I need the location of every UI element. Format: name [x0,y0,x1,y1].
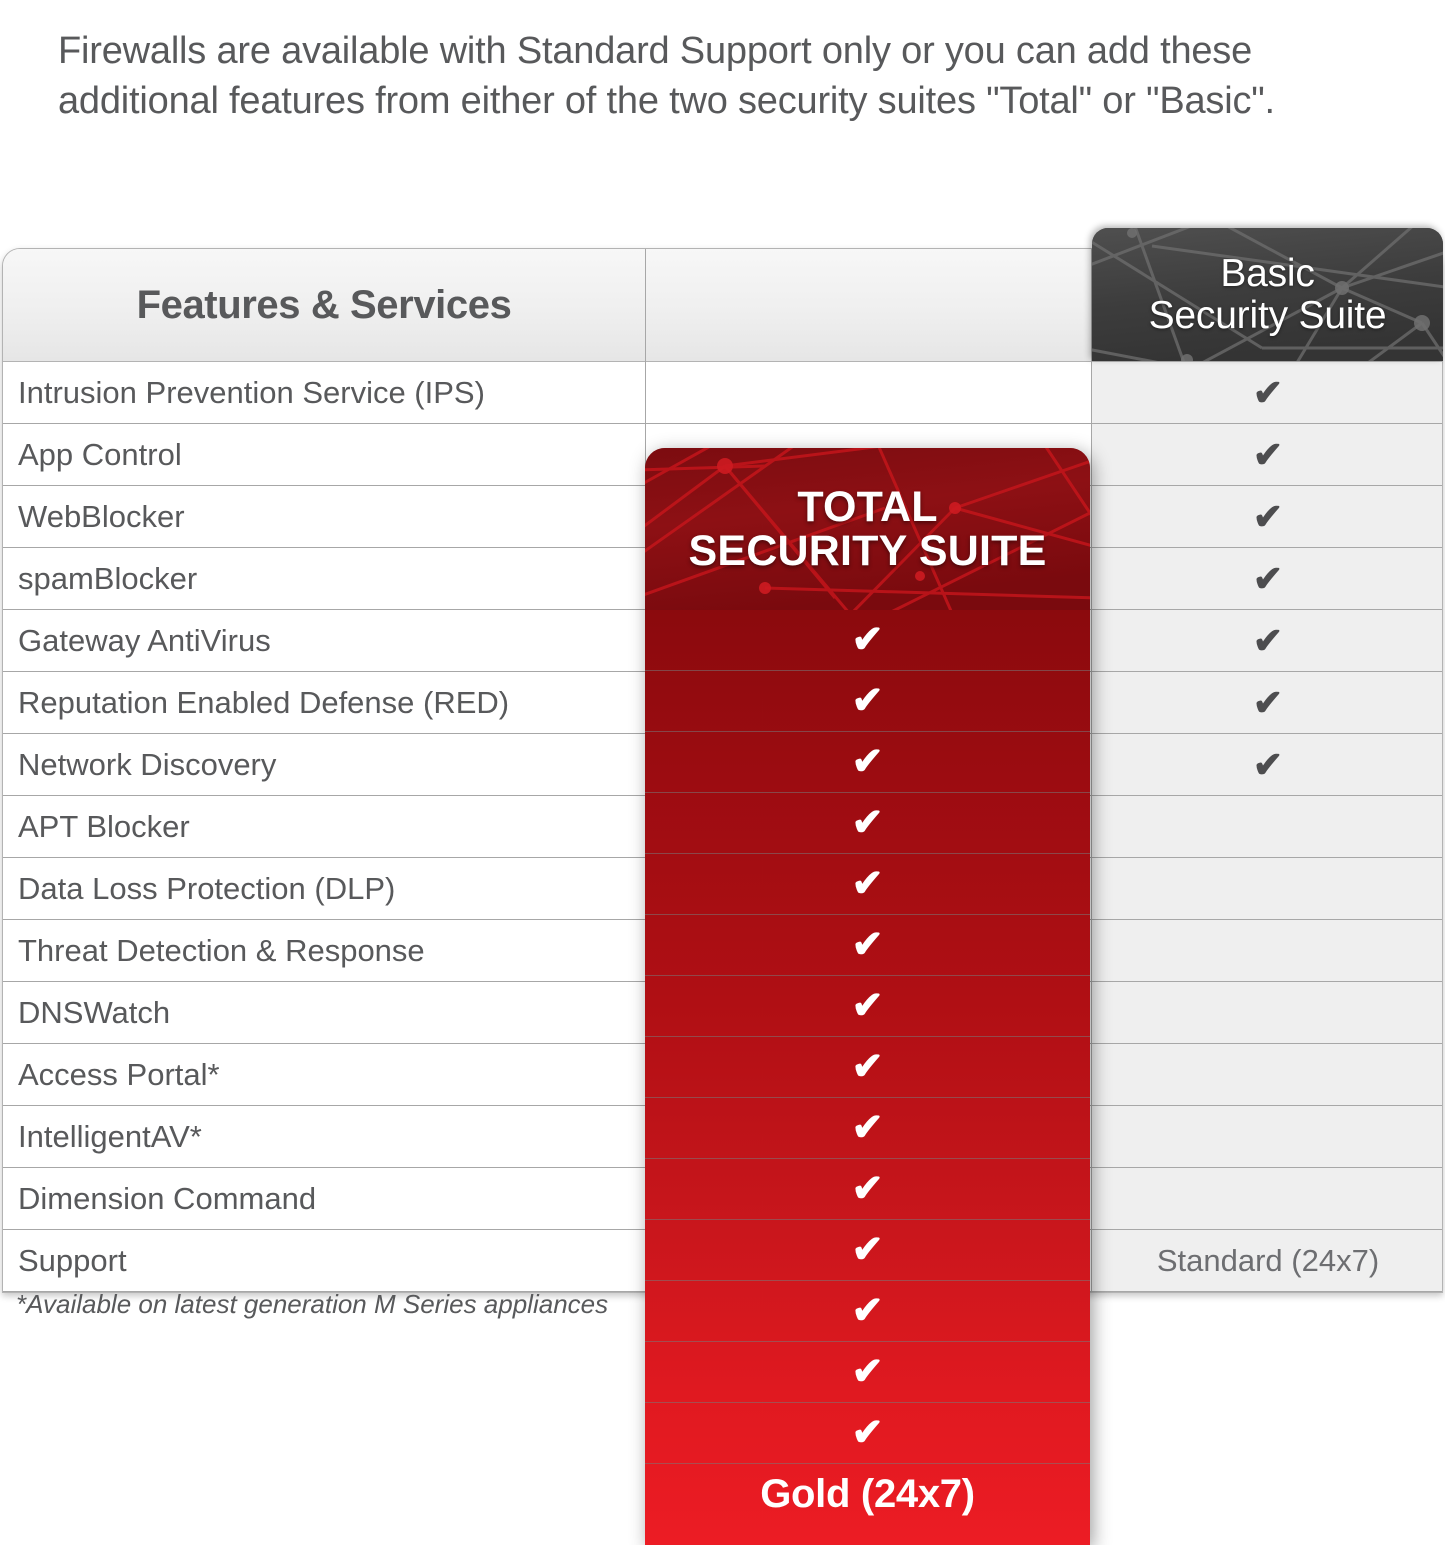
feature-name: Dimension Command [18,1168,316,1229]
check-icon: ✔ [852,926,884,964]
features-services-header: Features & Services [3,249,645,361]
check-icon: ✔ [852,1353,884,1391]
check-icon: ✔ [1253,685,1283,721]
basic-suite-cell [1092,1106,1443,1167]
total-suite-cell: ✔ [645,1037,1090,1098]
check-icon: ✔ [1253,747,1283,783]
basic-suite-cell [1092,858,1443,919]
feature-name: DNSWatch [18,982,170,1043]
feature-name: IntelligentAV* [18,1106,202,1167]
total-header-line1: TOTAL [797,485,937,529]
total-header-line2: SECURITY SUITE [688,529,1046,573]
total-suite-cell: ✔ [645,1220,1090,1281]
total-security-suite-column: TOTAL SECURITY SUITE ✔✔✔✔✔✔✔✔✔✔✔✔✔✔Gold … [645,448,1090,1545]
total-suite-cell: ✔ [645,793,1090,854]
basic-suite-cell: ✔ [1092,548,1443,609]
table-row: Intrusion Prevention Service (IPS)✔ [3,362,1442,424]
check-icon: ✔ [1253,561,1283,597]
total-suite-cell: ✔ [645,976,1090,1037]
basic-suite-cell [1092,920,1443,981]
feature-name: Access Portal* [18,1044,220,1105]
total-suite-cell: ✔ [645,732,1090,793]
basic-suite-cell [1092,1168,1443,1229]
feature-name: Data Loss Protection (DLP) [18,858,395,919]
feature-name: WebBlocker [18,486,185,547]
check-icon: ✔ [852,1048,884,1086]
check-icon: ✔ [852,1231,884,1269]
basic-suite-cell: ✔ [1092,424,1443,485]
feature-name: Reputation Enabled Defense (RED) [18,672,509,733]
basic-suite-cell: ✔ [1092,734,1443,795]
basic-suite-cell [1092,982,1443,1043]
check-icon: ✔ [852,865,884,903]
total-suite-cell: ✔ [645,610,1090,671]
total-suite-cell: ✔ [645,854,1090,915]
total-suite-cell: ✔ [645,1403,1090,1464]
check-icon: ✔ [852,743,884,781]
feature-name: App Control [18,424,182,485]
column-divider-basic [1091,249,1092,1292]
total-column-cells: ✔✔✔✔✔✔✔✔✔✔✔✔✔✔Gold (24x7) [645,610,1090,1545]
basic-suite-cell: Standard (24x7) [1092,1230,1443,1291]
basic-suite-cell: ✔ [1092,610,1443,671]
basic-suite-cell [1092,1044,1443,1105]
check-icon: ✔ [852,1109,884,1147]
basic-suite-cell: ✔ [1092,362,1443,423]
check-icon: ✔ [1253,375,1283,411]
basic-header-label: Basic Security Suite [1092,228,1443,361]
feature-name: Network Discovery [18,734,276,795]
check-icon: ✔ [852,987,884,1025]
footnote: *Available on latest generation M Series… [16,1289,608,1320]
intro-paragraph: Firewalls are available with Standard Su… [58,26,1418,126]
comparison-table: Features & Services Intrusion Prevention… [0,248,1445,1298]
feature-name: APT Blocker [18,796,190,857]
feature-name: Intrusion Prevention Service (IPS) [18,362,485,423]
basic-suite-cell: ✔ [1092,486,1443,547]
check-icon: ✔ [852,1292,884,1330]
check-icon: ✔ [1253,623,1283,659]
check-icon: ✔ [852,804,884,842]
check-icon: ✔ [1253,437,1283,473]
basic-suite-cell: ✔ [1092,672,1443,733]
total-suite-cell: ✔ [645,915,1090,976]
total-security-suite-header: TOTAL SECURITY SUITE [645,448,1090,610]
check-icon: ✔ [852,621,884,659]
basic-suite-cell [1092,796,1443,857]
feature-name: spamBlocker [18,548,197,609]
total-suite-cell: ✔ [645,1281,1090,1342]
total-suite-cell: Gold (24x7) [645,1464,1090,1525]
check-icon: ✔ [1253,499,1283,535]
basic-header-line1: Basic [1220,253,1314,295]
feature-name: Threat Detection & Response [18,920,425,981]
total-suite-cell: ✔ [645,1098,1090,1159]
feature-name: Support [18,1230,127,1291]
basic-header-line2: Security Suite [1149,295,1387,337]
check-icon: ✔ [852,682,884,720]
total-suite-cell: ✔ [645,671,1090,732]
total-suite-cell: ✔ [645,1159,1090,1220]
check-icon: ✔ [852,1414,884,1452]
feature-name: Gateway AntiVirus [18,610,271,671]
basic-security-suite-header: Basic Security Suite [1092,228,1443,361]
total-suite-cell: ✔ [645,1342,1090,1403]
total-header-label: TOTAL SECURITY SUITE [645,448,1090,610]
check-icon: ✔ [852,1170,884,1208]
